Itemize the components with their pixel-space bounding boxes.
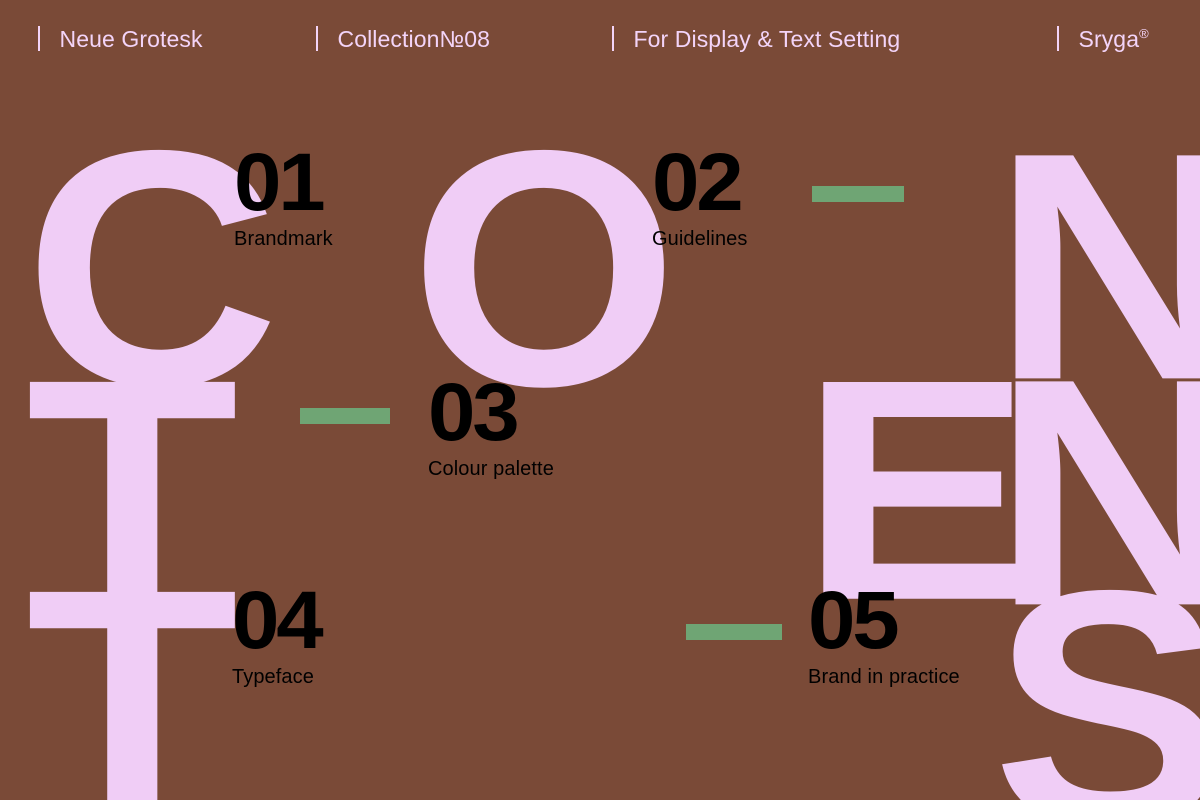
contents-entry-label: Guidelines [652,228,748,251]
contents-entry-03[interactable]: 03 Colour palette [428,378,554,481]
display-letter-t2: T [26,540,227,800]
numero-sign-icon: № [440,26,465,53]
contents-entry-01[interactable]: 01 Brandmark [234,148,333,251]
header-divider-icon [612,26,614,51]
accent-dash-guidelines [812,186,904,202]
contents-entry-number: 01 [234,148,337,219]
accent-dash-colour-palette [300,408,390,424]
header-divider-icon [316,26,318,51]
contents-entry-05[interactable]: 05 Brand in practice [808,586,960,689]
header-item-collection: Collection № 08 [316,22,490,53]
contents-entry-number: 02 [652,148,751,219]
contents-entry-label: Brand in practice [808,666,960,689]
page-header: Neue Grotesk Collection № 08 For Display… [0,0,1200,72]
contents-entry-number: 04 [232,586,321,657]
header-divider-icon [38,26,40,51]
header-item-brand: Sryga ® [1057,22,1149,53]
contents-entry-number: 05 [808,586,966,657]
header-divider-icon [1057,26,1059,51]
header-collection-prefix: Collection [338,26,440,53]
brand-name: Sryga [1079,26,1140,53]
contents-entry-label: Colour palette [428,458,554,481]
header-collection-number: 08 [464,26,490,53]
header-item-usage: For Display & Text Setting [612,22,900,53]
contents-entry-label: Brandmark [234,228,333,251]
accent-dash-brand-practice [686,624,782,640]
contents-entry-label: Typeface [232,666,317,689]
contents-entry-02[interactable]: 02 Guidelines [652,148,748,251]
registered-trademark-icon: ® [1139,26,1149,41]
header-item-label: For Display & Text Setting [634,26,901,53]
display-letter-s: S [992,540,1200,800]
header-item-typeface-name: Neue Grotesk [38,22,203,53]
header-item-label: Neue Grotesk [60,26,203,53]
contents-entry-04[interactable]: 04 Typeface [232,586,317,689]
contents-entry-number: 03 [428,378,559,449]
